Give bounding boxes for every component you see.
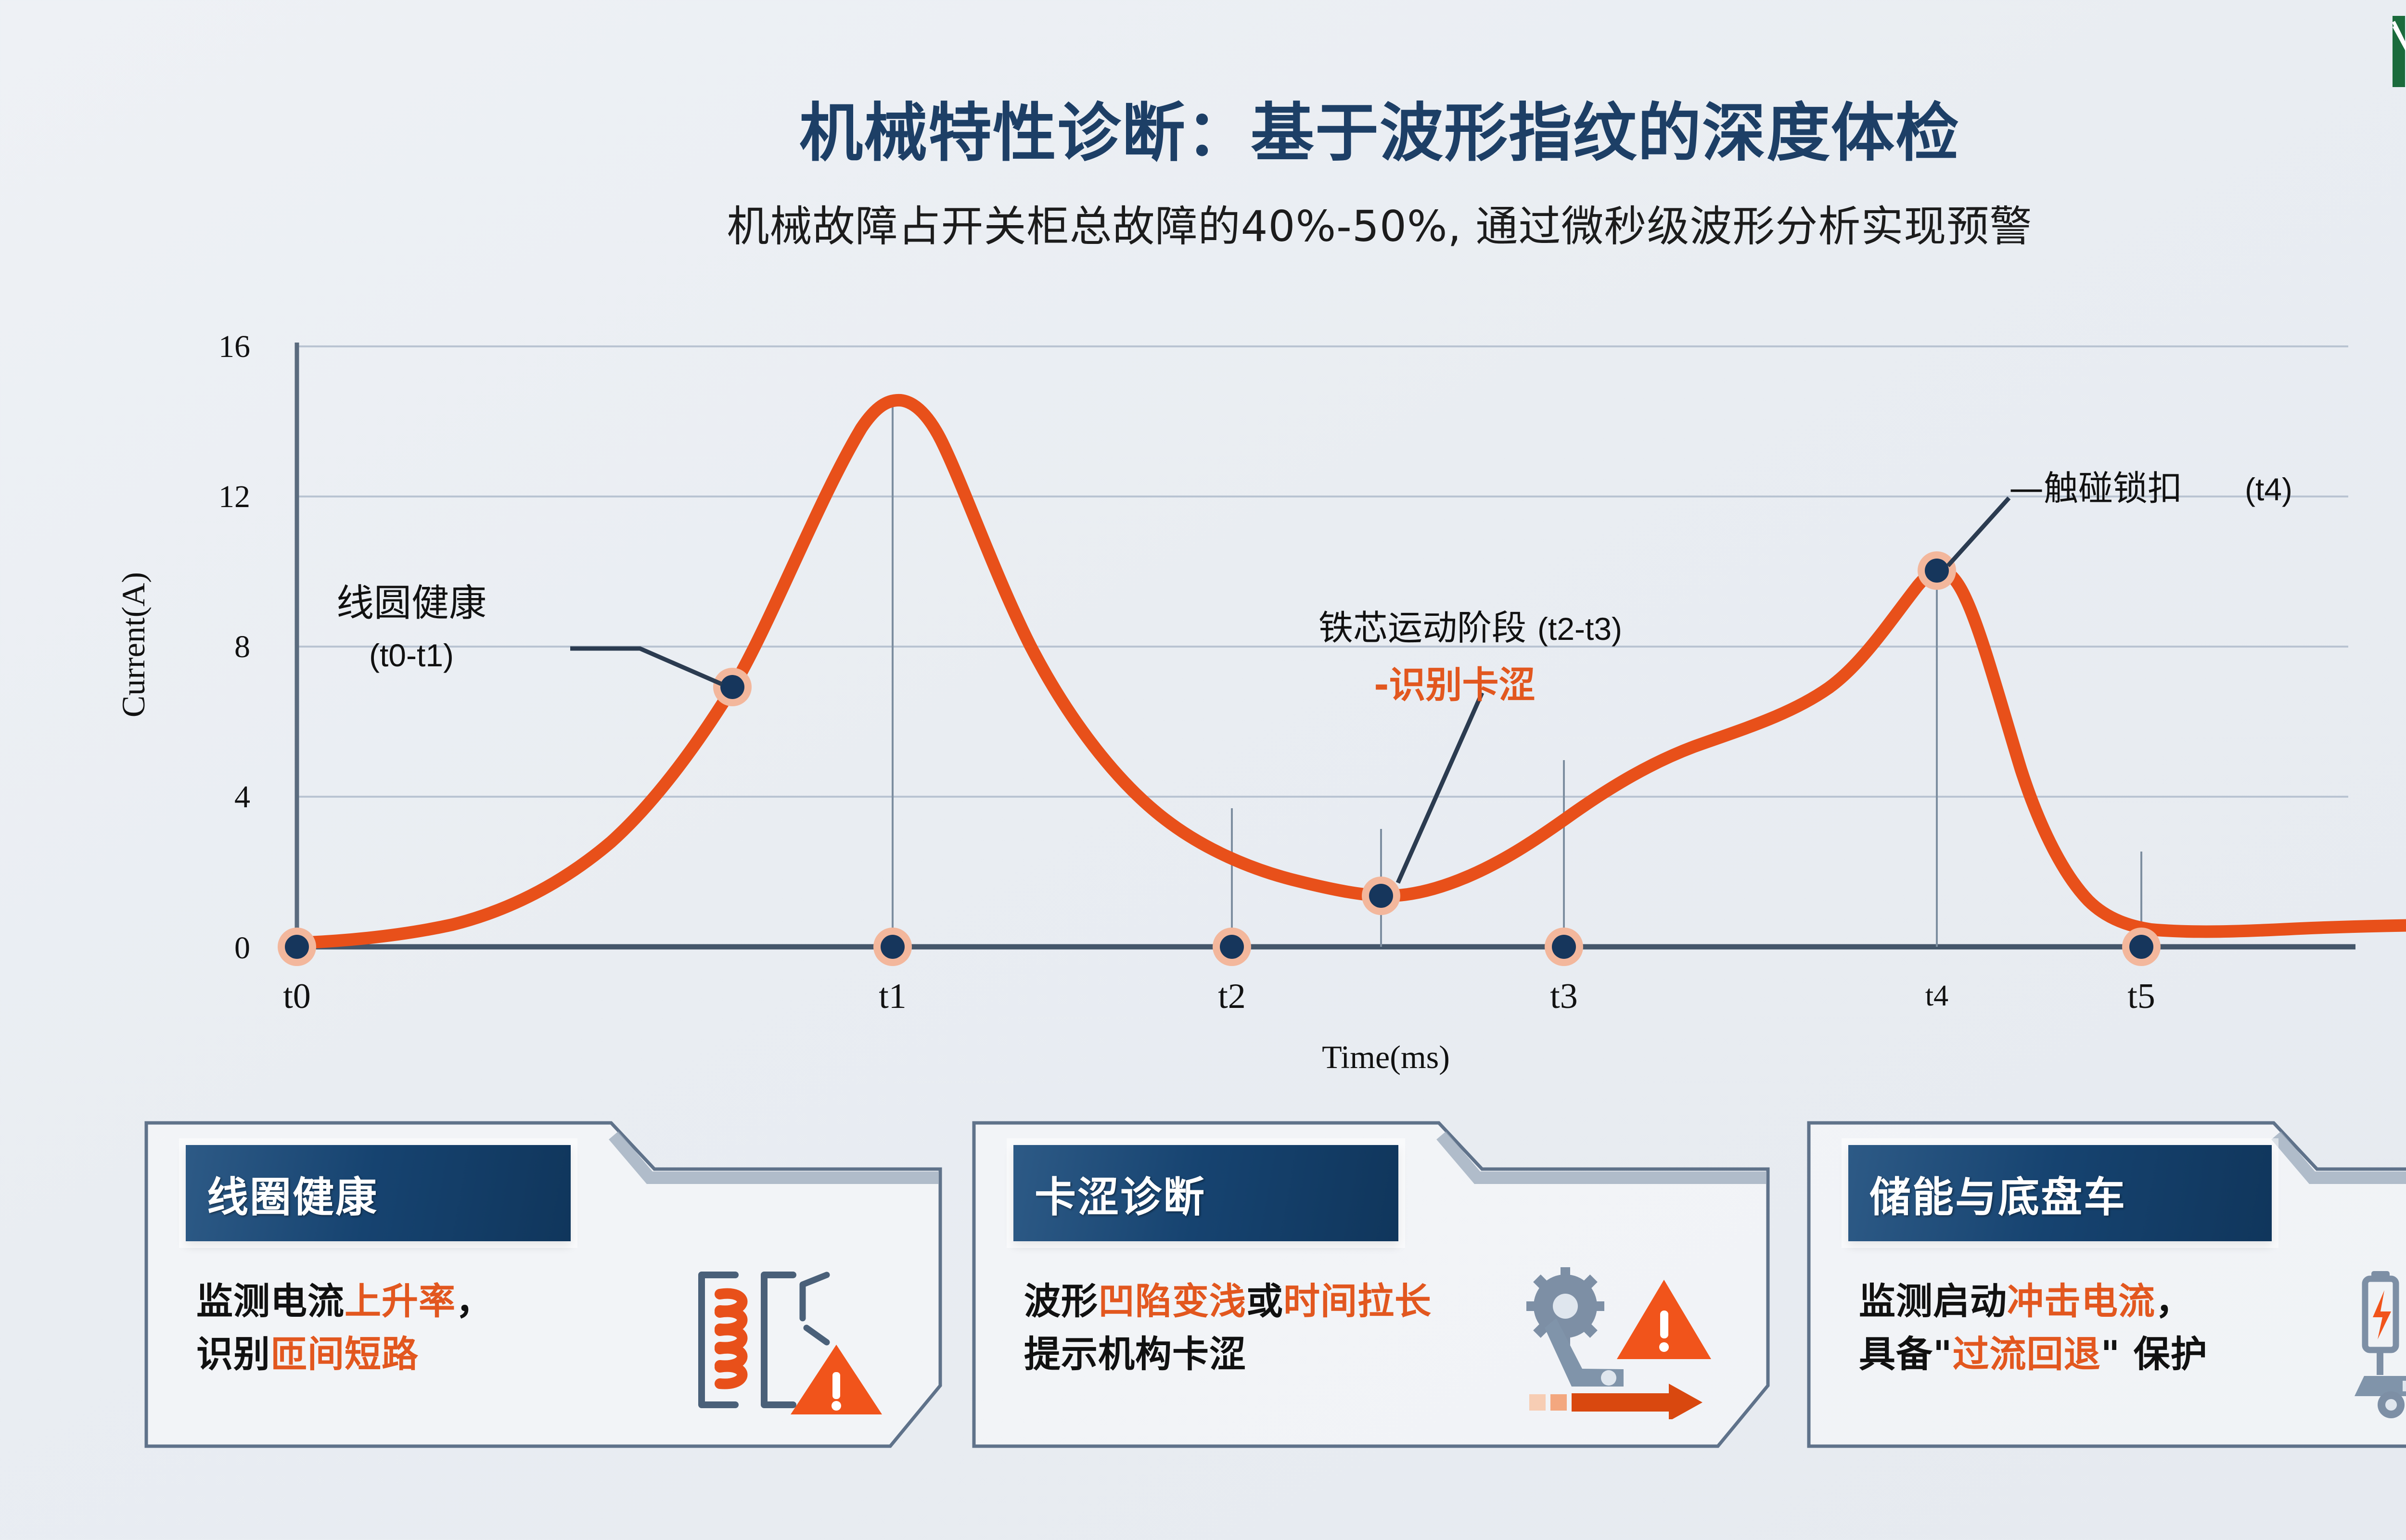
logo-wave-icon (2393, 16, 2406, 87)
battery-shield-trolley-icon (2345, 1260, 2406, 1419)
card-text-highlight: 凹陷变浅 (1098, 1280, 1246, 1323)
annotation-coil-health-label: 线圆健康 (336, 582, 486, 625)
annotation-core-motion-range: (t2-t3) (1537, 611, 1622, 647)
x-axis-title: Time(ms) (1322, 1039, 1450, 1075)
card-text-plain: 监测电流 (196, 1280, 345, 1323)
card-header: 卡涩诊断 (1013, 1145, 1398, 1241)
card-energy-storage-trolley[interactable]: 储能与底盘车 监测启动冲击电流， 具备"过流回退" 保护 (1802, 1116, 2406, 1453)
card-body: 监测启动冲击电流， 具备"过流回退" 保护 (1859, 1275, 2282, 1381)
current-waveform-chart: 16 12 8 4 0 Current(A) 线圆健康 (t0-t1) 铁芯运动… (0, 308, 2406, 1097)
y-tick-4: 4 (234, 779, 250, 815)
chart-gridlines (297, 346, 2348, 797)
x-tick-t0: t0 (283, 977, 311, 1016)
annotation-core-motion-accent: -识别卡涩 (1374, 663, 1536, 706)
brand-logo: 轨物科技 WWW.THINGCOM.COM (2393, 14, 2406, 88)
gear-lever-warning-icon (1510, 1260, 1717, 1419)
y-tick-16: 16 (218, 329, 250, 364)
card-text-plain: ， (456, 1280, 493, 1323)
card-text-plain: " 保护 (2101, 1333, 2208, 1375)
card-text-plain: 提示机构卡涩 (1024, 1333, 1246, 1375)
coil-warning-icon (682, 1260, 889, 1419)
card-text-plain: 识别 (196, 1333, 270, 1375)
page-title: 机械特性诊断：基于波形指纹的深度体检 (0, 82, 2406, 174)
y-tick-0: 0 (234, 930, 250, 966)
card-text-plain: 具备" (1859, 1333, 1953, 1375)
x-tick-t5: t5 (2127, 977, 2155, 1016)
card-coil-health[interactable]: 线圈健康 监测电流上升率， 识别匝间短路 (140, 1116, 947, 1453)
card-title: 线圈健康 (207, 1163, 378, 1223)
x-tick-t2: t2 (1218, 977, 1246, 1016)
diagnostic-cards: 线圈健康 监测电流上升率， 识别匝间短路 卡涩诊断 (0, 1116, 2406, 1472)
card-text-highlight: 上升率 (345, 1280, 456, 1323)
logo-mark-icon (2393, 16, 2406, 87)
card-text-plain: 监测启动 (1859, 1280, 2007, 1323)
card-text-plain: 波形 (1024, 1280, 1098, 1323)
annotation-coil-health-range: (t0-t1) (369, 637, 454, 673)
annotation-latch-range: (t4) (2245, 471, 2292, 507)
card-text-highlight: 匝间短路 (270, 1333, 419, 1375)
card-text-highlight: 冲击电流 (2007, 1280, 2155, 1323)
y-tick-8: 8 (234, 629, 250, 664)
card-body: 监测电流上升率， 识别匝间短路 (196, 1275, 620, 1381)
card-title: 卡涩诊断 (1035, 1163, 1206, 1223)
page-subtitle: 机械故障占开关柜总故障的40%-50%, 通过微秒级波形分析实现预警 (0, 192, 2406, 254)
x-tick-t1: t1 (879, 977, 907, 1016)
card-text-highlight: 过流回退 (1953, 1333, 2101, 1375)
annotation-latch-label: —触碰锁扣 (2009, 468, 2182, 509)
card-text-plain: 或 (1246, 1280, 1283, 1323)
card-text-plain: ， (2155, 1280, 2192, 1323)
card-jam-diagnosis[interactable]: 卡涩诊断 波形凹陷变浅或时间拉长提示机构卡涩 (967, 1116, 1775, 1453)
annotation-leader-lines (570, 498, 2009, 883)
card-title: 储能与底盘车 (1869, 1163, 2126, 1223)
chart-markers (278, 551, 2161, 966)
card-body: 波形凹陷变浅或时间拉长提示机构卡涩 (1024, 1275, 1447, 1381)
y-tick-12: 12 (218, 479, 250, 514)
annotation-core-motion-label: 铁芯运动阶段 (1318, 608, 1526, 648)
y-axis-title: Current(A) (115, 572, 152, 717)
card-text-highlight: 时间拉长 (1283, 1280, 1432, 1323)
x-tick-t4: t4 (1925, 980, 1948, 1012)
card-header: 线圈健康 (186, 1145, 571, 1241)
card-header: 储能与底盘车 (1848, 1145, 2272, 1241)
x-tick-t3: t3 (1550, 977, 1578, 1016)
